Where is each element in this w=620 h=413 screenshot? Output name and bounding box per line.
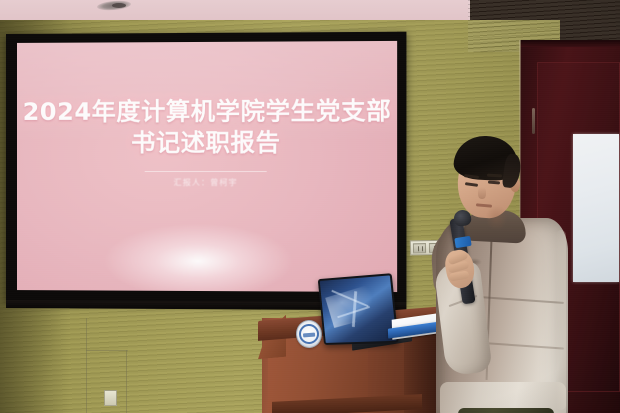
ceiling-sprinkler-icon — [112, 3, 126, 8]
slide-subtitle: 汇报人：曾柯宇 — [17, 177, 397, 188]
wall-seam-horizontal — [86, 350, 128, 351]
slide-title-line-2: 书记述职报告 — [17, 127, 397, 159]
nose — [478, 187, 486, 199]
face-shading — [485, 204, 509, 231]
slide-title-line-1: 2024年度计算机学院学生党支部 — [17, 96, 397, 128]
wall-outlet-plate — [104, 390, 117, 406]
slide-title: 2024年度计算机学院学生党支部 书记述职报告 — [17, 96, 397, 159]
slide-divider-rule — [145, 171, 267, 172]
wall-seam-vertical — [86, 318, 87, 413]
projection-screen-frame: 2024年度计算机学院学生党支部 书记述职报告 汇报人：曾柯宇 — [6, 32, 406, 305]
presentation-laptop[interactable] — [318, 273, 399, 345]
door-frame-top — [520, 40, 620, 47]
door-frosted-glass-window — [573, 134, 619, 282]
projection-screen: 2024年度计算机学院学生党支部 书记述职报告 汇报人：曾柯宇 — [17, 41, 397, 292]
wall-seam-vertical — [126, 350, 127, 413]
trousers — [458, 408, 554, 413]
student-presenter — [430, 130, 570, 413]
socket-icon — [412, 243, 425, 253]
presentation-scene: 2024年度计算机学院学生党支部 书记述职报告 汇报人：曾柯宇 — [0, 0, 620, 413]
